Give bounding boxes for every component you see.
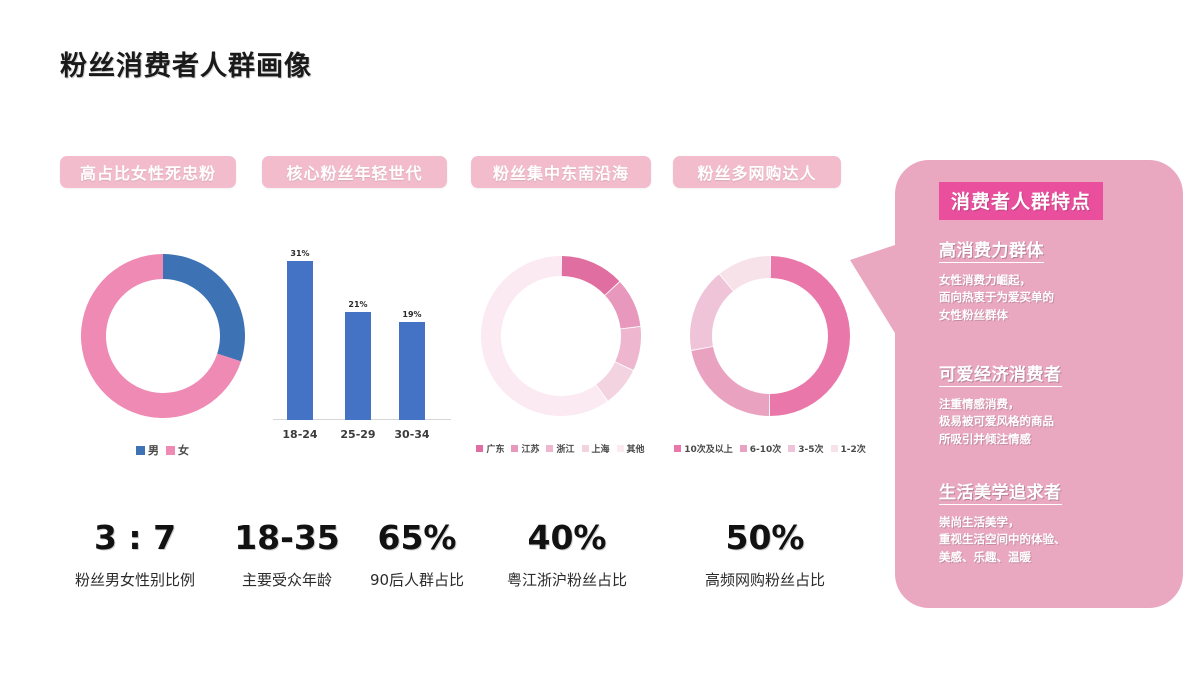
legend-item-6-10次[interactable]: 6-10次 xyxy=(740,442,782,455)
legend-swatch-female xyxy=(166,446,175,455)
bar-category-30-34: 30-34 xyxy=(389,428,435,441)
legend-item-其他[interactable]: 其他 xyxy=(617,442,645,455)
legend-label-3-5次: 3-5次 xyxy=(798,442,823,455)
legend-item-3-5次[interactable]: 3-5次 xyxy=(788,442,823,455)
legend-swatch-其他 xyxy=(617,445,624,452)
tag-pill-1[interactable]: 高占比女性死忠粉 xyxy=(60,156,236,188)
region-donut-svg xyxy=(476,251,646,421)
tag-pill-4[interactable]: 粉丝多网购达人 xyxy=(673,156,841,188)
speech-bubble-tail-icon xyxy=(850,244,898,338)
panel-title: 消费者人群特点 xyxy=(939,182,1103,220)
bar-value-25-29: 21% xyxy=(338,300,378,309)
donut-slice-广东[interactable] xyxy=(561,256,619,295)
legend-label-6-10次: 6-10次 xyxy=(750,442,782,455)
legend-swatch-上海 xyxy=(582,445,589,452)
gender-donut-legend: 男 女 xyxy=(60,442,265,458)
legend-label-江苏: 江苏 xyxy=(521,442,539,455)
panel-section-1: 高消费力群体 女性消费力崛起， 面向热衷于为爱买单的 女性粉丝群体 xyxy=(939,236,1163,324)
panel-section-2-body: 注重情感消费， 极易被可爱风格的商品 所吸引并倾注情感 xyxy=(939,396,1163,448)
legend-swatch-浙江 xyxy=(546,445,553,452)
stat-value-gender-ratio: 3 : 7 xyxy=(55,518,215,557)
legend-swatch-广东 xyxy=(476,445,483,452)
age-bar-categories: 18-24 25-29 30-34 xyxy=(265,428,455,446)
legend-label-female: 女 xyxy=(178,442,189,458)
legend-swatch-6-10次 xyxy=(740,445,747,452)
panel-section-2-title: 可爱经济消费者 xyxy=(939,360,1062,387)
legend-label-10次及以上: 10次及以上 xyxy=(684,442,733,455)
stat-main-age: 18-35 主要受众年龄 xyxy=(222,518,352,590)
consumer-traits-panel: 消费者人群特点 高消费力群体 女性消费力崛起， 面向热衷于为爱买单的 女性粉丝群… xyxy=(895,160,1183,608)
donut-slice-10次及以上[interactable] xyxy=(770,256,850,416)
stat-value-post90-share: 65% xyxy=(352,518,482,557)
panel-section-3-title: 生活美学追求者 xyxy=(939,478,1062,505)
legend-item-上海[interactable]: 上海 xyxy=(582,442,610,455)
chart-shopping-frequency-donut: 10次及以上6-10次3-5次1-2次 xyxy=(665,236,875,455)
stat-shopping-share: 50% 高频网购粉丝占比 xyxy=(680,518,850,590)
gender-donut-svg xyxy=(78,251,248,421)
stat-caption-gender-ratio: 粉丝男女性别比例 xyxy=(55,569,215,590)
shopping-donut-canvas xyxy=(665,236,875,436)
donut-slice-男[interactable] xyxy=(163,254,245,361)
age-bar-plot: 31% 21% 19% 18-24 25-29 30-34 xyxy=(265,236,455,436)
gender-donut-canvas xyxy=(60,236,265,436)
legend-swatch-10次及以上 xyxy=(674,445,681,452)
stat-value-main-age: 18-35 xyxy=(222,518,352,557)
legend-item-female[interactable]: 女 xyxy=(166,442,189,458)
shopping-donut-legend: 10次及以上6-10次3-5次1-2次 xyxy=(665,442,875,455)
legend-item-浙江[interactable]: 浙江 xyxy=(546,442,574,455)
shopping-donut-svg xyxy=(685,251,855,421)
bar-25-29[interactable]: 21% xyxy=(345,312,371,420)
panel-section-3-body: 崇尚生活美学， 重视生活空间中的体验、 美感、乐趣、温暖 xyxy=(939,514,1163,566)
bar-value-30-34: 19% xyxy=(392,310,432,319)
legend-label-浙江: 浙江 xyxy=(556,442,574,455)
panel-section-1-body: 女性消费力崛起， 面向热衷于为爱买单的 女性粉丝群体 xyxy=(939,272,1163,324)
chart-region-donut: 广东江苏浙江上海其他 xyxy=(458,236,663,455)
stat-region-share: 40% 粤江浙沪粉丝占比 xyxy=(487,518,647,590)
chart-gender-donut: 男 女 xyxy=(60,236,265,458)
slide-root: 粉丝消费者人群画像 高占比女性死忠粉 核心粉丝年轻世代 粉丝集中东南沿海 粉丝多… xyxy=(0,0,1200,675)
legend-label-其他: 其他 xyxy=(627,442,645,455)
legend-item-10次及以上[interactable]: 10次及以上 xyxy=(674,442,733,455)
region-donut-canvas xyxy=(458,236,663,436)
bar-category-25-29: 25-29 xyxy=(335,428,381,441)
bar-30-34[interactable]: 19% xyxy=(399,322,425,420)
legend-item-广东[interactable]: 广东 xyxy=(476,442,504,455)
bar-category-18-24: 18-24 xyxy=(277,428,323,441)
legend-label-male: 男 xyxy=(148,442,159,458)
legend-item-male[interactable]: 男 xyxy=(136,442,159,458)
legend-item-1-2次[interactable]: 1-2次 xyxy=(831,442,866,455)
legend-item-江苏[interactable]: 江苏 xyxy=(511,442,539,455)
legend-swatch-3-5次 xyxy=(788,445,795,452)
stat-caption-shopping-share: 高频网购粉丝占比 xyxy=(680,569,850,590)
stat-value-region-share: 40% xyxy=(487,518,647,557)
tag-pill-3[interactable]: 粉丝集中东南沿海 xyxy=(471,156,651,188)
legend-label-广东: 广东 xyxy=(486,442,504,455)
panel-section-2: 可爱经济消费者 注重情感消费， 极易被可爱风格的商品 所吸引并倾注情感 xyxy=(939,360,1163,448)
legend-label-1-2次: 1-2次 xyxy=(841,442,866,455)
panel-section-3: 生活美学追求者 崇尚生活美学， 重视生活空间中的体验、 美感、乐趣、温暖 xyxy=(939,478,1163,566)
bar-value-18-24: 31% xyxy=(280,249,320,258)
donut-slice-3-5次[interactable] xyxy=(690,274,733,350)
tag-pill-2[interactable]: 核心粉丝年轻世代 xyxy=(262,156,447,188)
legend-label-上海: 上海 xyxy=(592,442,610,455)
page-title: 粉丝消费者人群画像 xyxy=(60,44,312,83)
bar-18-24[interactable]: 31% xyxy=(287,261,313,420)
panel-section-1-title: 高消费力群体 xyxy=(939,236,1044,263)
stat-caption-main-age: 主要受众年龄 xyxy=(222,569,352,590)
donut-slice-浙江[interactable] xyxy=(615,327,641,370)
stat-gender-ratio: 3 : 7 粉丝男女性别比例 xyxy=(55,518,215,590)
legend-swatch-江苏 xyxy=(511,445,518,452)
stat-value-shopping-share: 50% xyxy=(680,518,850,557)
legend-swatch-1-2次 xyxy=(831,445,838,452)
stat-post90-share: 65% 90后人群占比 xyxy=(352,518,482,590)
stat-caption-post90-share: 90后人群占比 xyxy=(352,569,482,590)
donut-slice-6-10次[interactable] xyxy=(691,347,769,416)
region-donut-legend: 广东江苏浙江上海其他 xyxy=(458,442,663,455)
chart-age-bar: 31% 21% 19% 18-24 25-29 30-34 xyxy=(265,236,455,436)
legend-swatch-male xyxy=(136,446,145,455)
stat-caption-region-share: 粤江浙沪粉丝占比 xyxy=(487,569,647,590)
